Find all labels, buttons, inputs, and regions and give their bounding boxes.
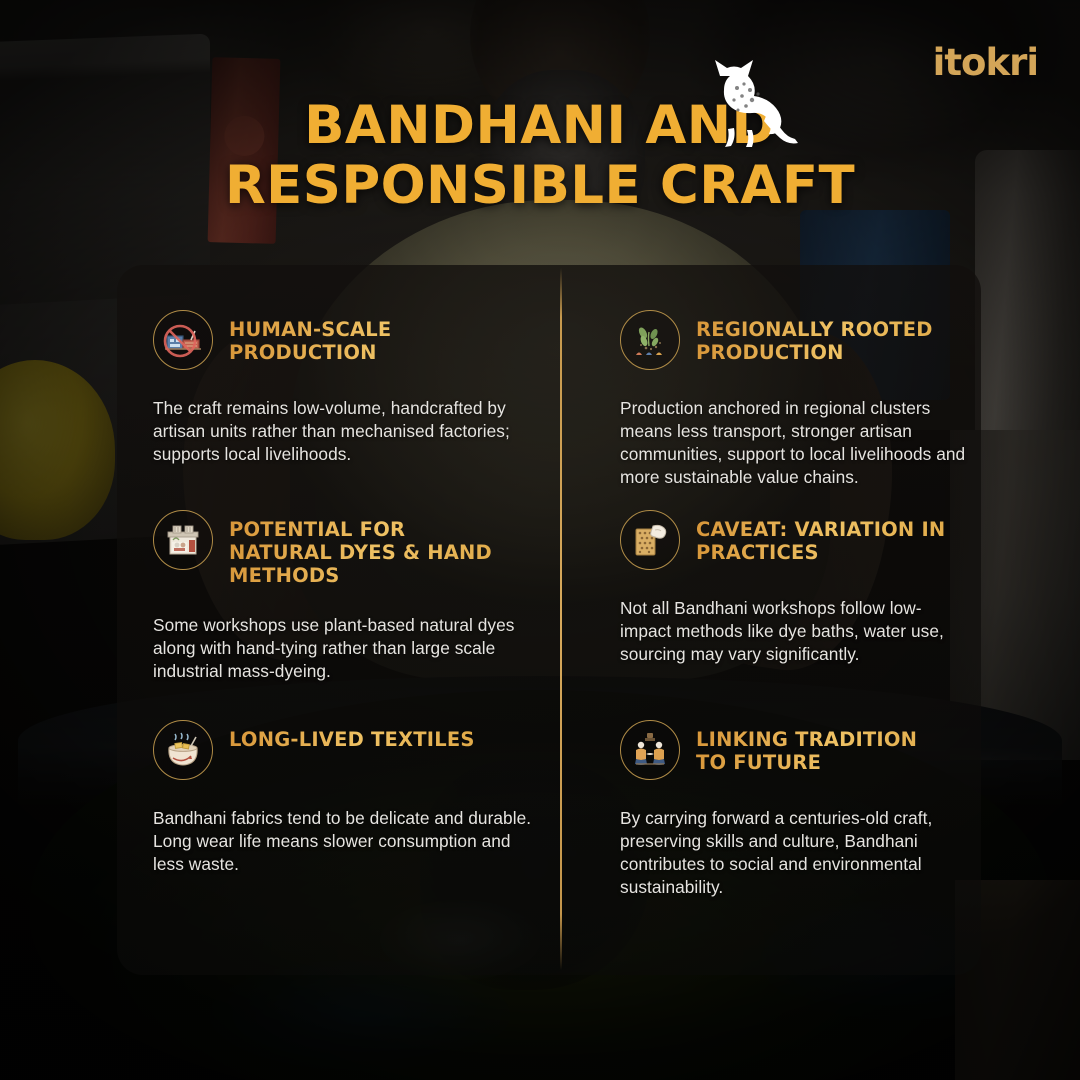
card-header: HUMAN-SCALE PRODUCTION [153,310,534,370]
card-title: LONG-LIVED TEXTILES [229,720,475,751]
card-body: Bandhani fabrics tend to be delicate and… [153,807,534,876]
card-header: CAVEAT: VARIATION IN PRACTICES [620,510,971,570]
card-body: By carrying forward a centuries-old craf… [620,807,971,899]
card-linking-tradition-to-future: LINKING TRADITION TO FUTURE By carrying … [560,675,981,975]
hand-holding-fabric-icon [620,510,680,570]
title-line-1: BANDHANI AND [0,96,1080,156]
card-title: REGIONALLY ROOTED PRODUCTION [696,310,951,364]
card-header: REGIONALLY ROOTED PRODUCTION [620,310,971,370]
workshop-building-icon [153,510,213,570]
card-body: Not all Bandhani workshops follow low-im… [620,597,971,666]
card-caveat-variation-in-practices: CAVEAT: VARIATION IN PRACTICES Not all B… [560,465,981,675]
page-title: BANDHANI AND RESPONSIBLE CRAFT [0,96,1080,216]
card-body: The craft remains low-volume, handcrafte… [153,397,534,466]
card-header: LINKING TRADITION TO FUTURE [620,720,971,780]
card-human-scale-production: HUMAN-SCALE PRODUCTION The craft remains… [117,265,560,465]
card-title: LINKING TRADITION TO FUTURE [696,720,951,774]
itokri-logo[interactable]: itokri [933,44,1038,81]
card-body: Some workshops use plant-based natural d… [153,614,534,683]
card-natural-dyes-hand-methods: POTENTIAL FOR NATURAL DYES & HAND METHOD… [117,465,560,675]
two-artisans-icon [620,720,680,780]
title-line-2: RESPONSIBLE CRAFT [0,156,1080,216]
card-header: POTENTIAL FOR NATURAL DYES & HAND METHOD… [153,510,534,587]
steaming-dye-pot-icon [153,720,213,780]
card-header: LONG-LIVED TEXTILES [153,720,534,780]
card-title: CAVEAT: VARIATION IN PRACTICES [696,510,951,564]
cat-mark-icon [690,54,802,150]
card-regionally-rooted-production: REGIONALLY ROOTED PRODUCTION Production … [560,265,981,465]
no-factory-icon [153,310,213,370]
card-long-lived-textiles: LONG-LIVED TEXTILES Bandhani fabrics ten… [117,675,560,975]
card-title: HUMAN-SCALE PRODUCTION [229,310,504,364]
card-title: POTENTIAL FOR NATURAL DYES & HAND METHOD… [229,510,504,587]
benefits-grid: HUMAN-SCALE PRODUCTION The craft remains… [117,265,981,975]
seedling-sprout-icon [620,310,680,370]
